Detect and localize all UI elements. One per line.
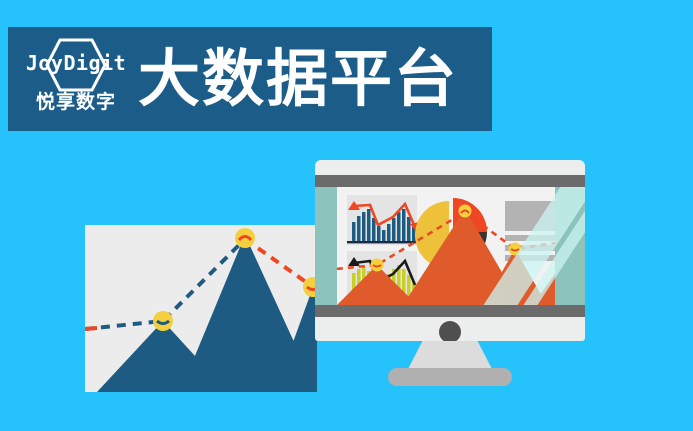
monitor-top-bar [315,175,585,187]
logo-subtitle: 悦享数字 [20,93,132,112]
data-node [153,311,173,331]
monitor-bottom-bar [315,305,585,317]
mountain-line-chart-panel [85,225,317,392]
blue-bar-chart-card [347,195,419,245]
header-banner: JoyDigit 悦享数字 大数据平台 [8,27,492,131]
page-title: 大数据平台 [138,49,458,111]
monitor-power-knob [439,321,461,343]
card-axis [347,241,417,243]
monitor-stand-base [388,368,512,386]
brand-logo: JoyDigit 悦享数字 [20,35,132,123]
desktop-monitor [315,160,585,341]
illustration-canvas: JoyDigit 悦享数字 大数据平台 [0,0,693,431]
screen-side-panel-left [315,187,337,305]
trend-line-red-tail [85,328,97,329]
screen-content [315,187,585,305]
monitor-screen [315,187,585,305]
monitor-stand-neck [407,341,493,371]
logo-wordmark: JoyDigit [20,53,132,73]
data-node [371,259,384,272]
left-panel-graphics [85,225,317,392]
